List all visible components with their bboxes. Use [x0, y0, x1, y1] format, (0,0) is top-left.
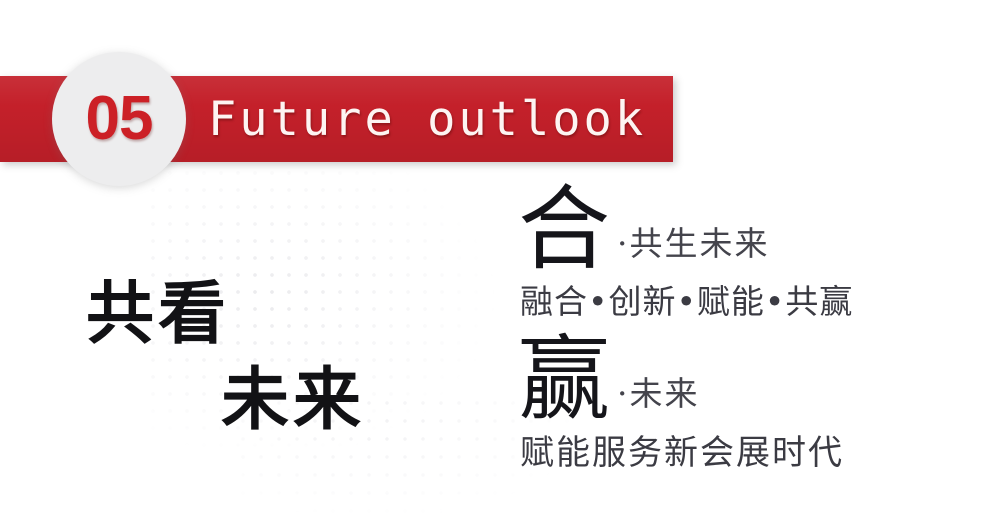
- concept-row-1: 合 ·共生未来: [518, 182, 978, 278]
- concept-phrase-2: ·未来: [617, 374, 700, 414]
- left-headline: 共看 未来: [86, 272, 365, 444]
- section-title: Future outlook: [208, 94, 646, 146]
- concept-phrase-1: ·共生未来: [617, 224, 770, 264]
- concept-block: 合 ·共生未来 融合•创新•赋能•共赢 赢 ·未来 赋能服务新会展时代: [518, 182, 978, 476]
- concept-glyph-1: 合: [518, 182, 611, 278]
- left-headline-line-1: 共看: [86, 275, 230, 354]
- left-headline-line-2: 未来: [86, 358, 365, 444]
- concept-row-2: 赢 ·未来: [518, 332, 978, 428]
- section-number-badge: 05: [52, 52, 186, 186]
- concept-tagline-1: 融合•创新•赋能•共赢: [520, 280, 978, 324]
- concept-tagline-2: 赋能服务新会展时代: [520, 430, 978, 476]
- slide-canvas: 05 Future outlook 共看 未来 合 ·共生未来 融合•创新•赋能…: [0, 0, 1000, 527]
- concept-glyph-2: 赢: [518, 332, 611, 428]
- section-number-label: 05: [86, 88, 153, 150]
